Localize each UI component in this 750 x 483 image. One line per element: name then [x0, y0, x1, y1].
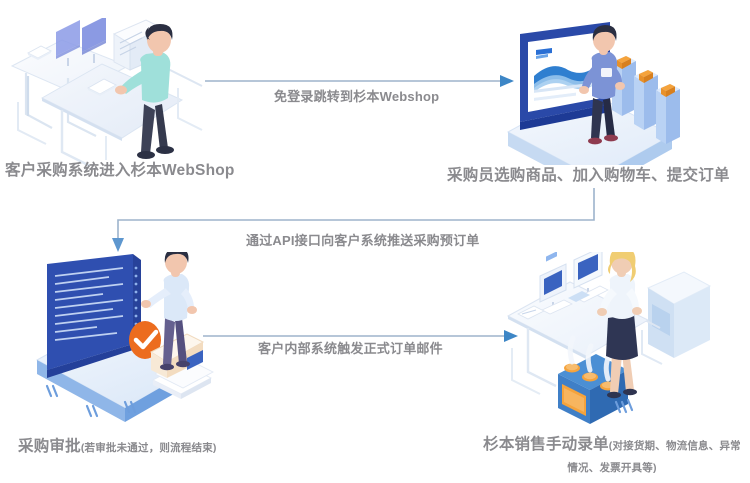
connector-arrow-3-label: 客户内部系统触发正式订单邮件	[258, 338, 443, 357]
caption-customer-purchasing-system: 客户采购系统进入杉本WebShop	[5, 158, 235, 180]
caption-main-text: 客户采购系统进入杉本WebShop	[5, 162, 235, 179]
caption-sub-text: (若审批未通过，则流程结束)	[81, 442, 217, 454]
caption-purchase-approval: 采购审批(若审批未通过，则流程结束)	[18, 434, 217, 456]
diagram-canvas: 免登录跳转到杉本Webshop 通过API接口向客户系统推送采购预订单 客户内部…	[0, 0, 750, 483]
caption-sales-manual-entry: 杉本销售手动录单(对接货期、物流信息、异常情况、发票开具等)	[482, 434, 742, 478]
illustration-customer-purchasing-system	[10, 18, 225, 168]
connector-arrow-2-label: 通过API接口向客户系统推送采购预订单	[246, 230, 479, 249]
connector-arrow-1-label: 免登录跳转到杉本Webshop	[274, 86, 439, 105]
caption-buyer-shopping: 采购员选购商品、加入购物车、提交订单	[447, 163, 730, 185]
caption-main-text: 采购员选购商品、加入购物车、提交订单	[447, 167, 730, 184]
illustration-buyer-shopping	[500, 20, 690, 165]
caption-main-text: 采购审批	[18, 438, 81, 455]
illustration-sales-manual-entry	[498, 252, 713, 432]
caption-main-text: 杉本销售手动录单	[483, 436, 609, 453]
